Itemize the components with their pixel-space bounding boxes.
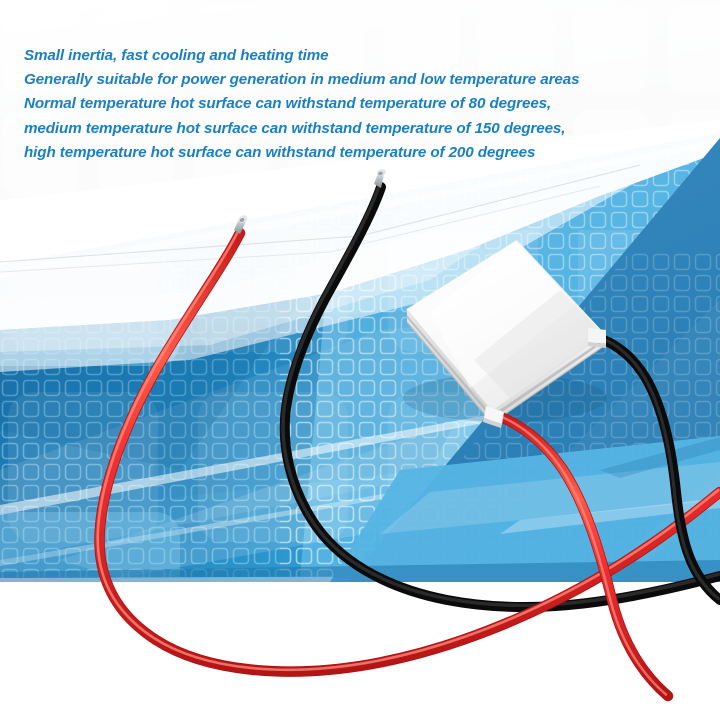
peltier-ceramic-plate <box>403 241 607 423</box>
black-wire-module-lead <box>598 338 720 600</box>
red-wire-tinned-tip <box>234 214 249 234</box>
product-photo-layer <box>0 0 720 720</box>
red-lead-wire <box>98 214 720 672</box>
black-lead-grommet <box>588 328 606 344</box>
product-banner: Small inertia, fast cooling and heating … <box>0 0 720 720</box>
